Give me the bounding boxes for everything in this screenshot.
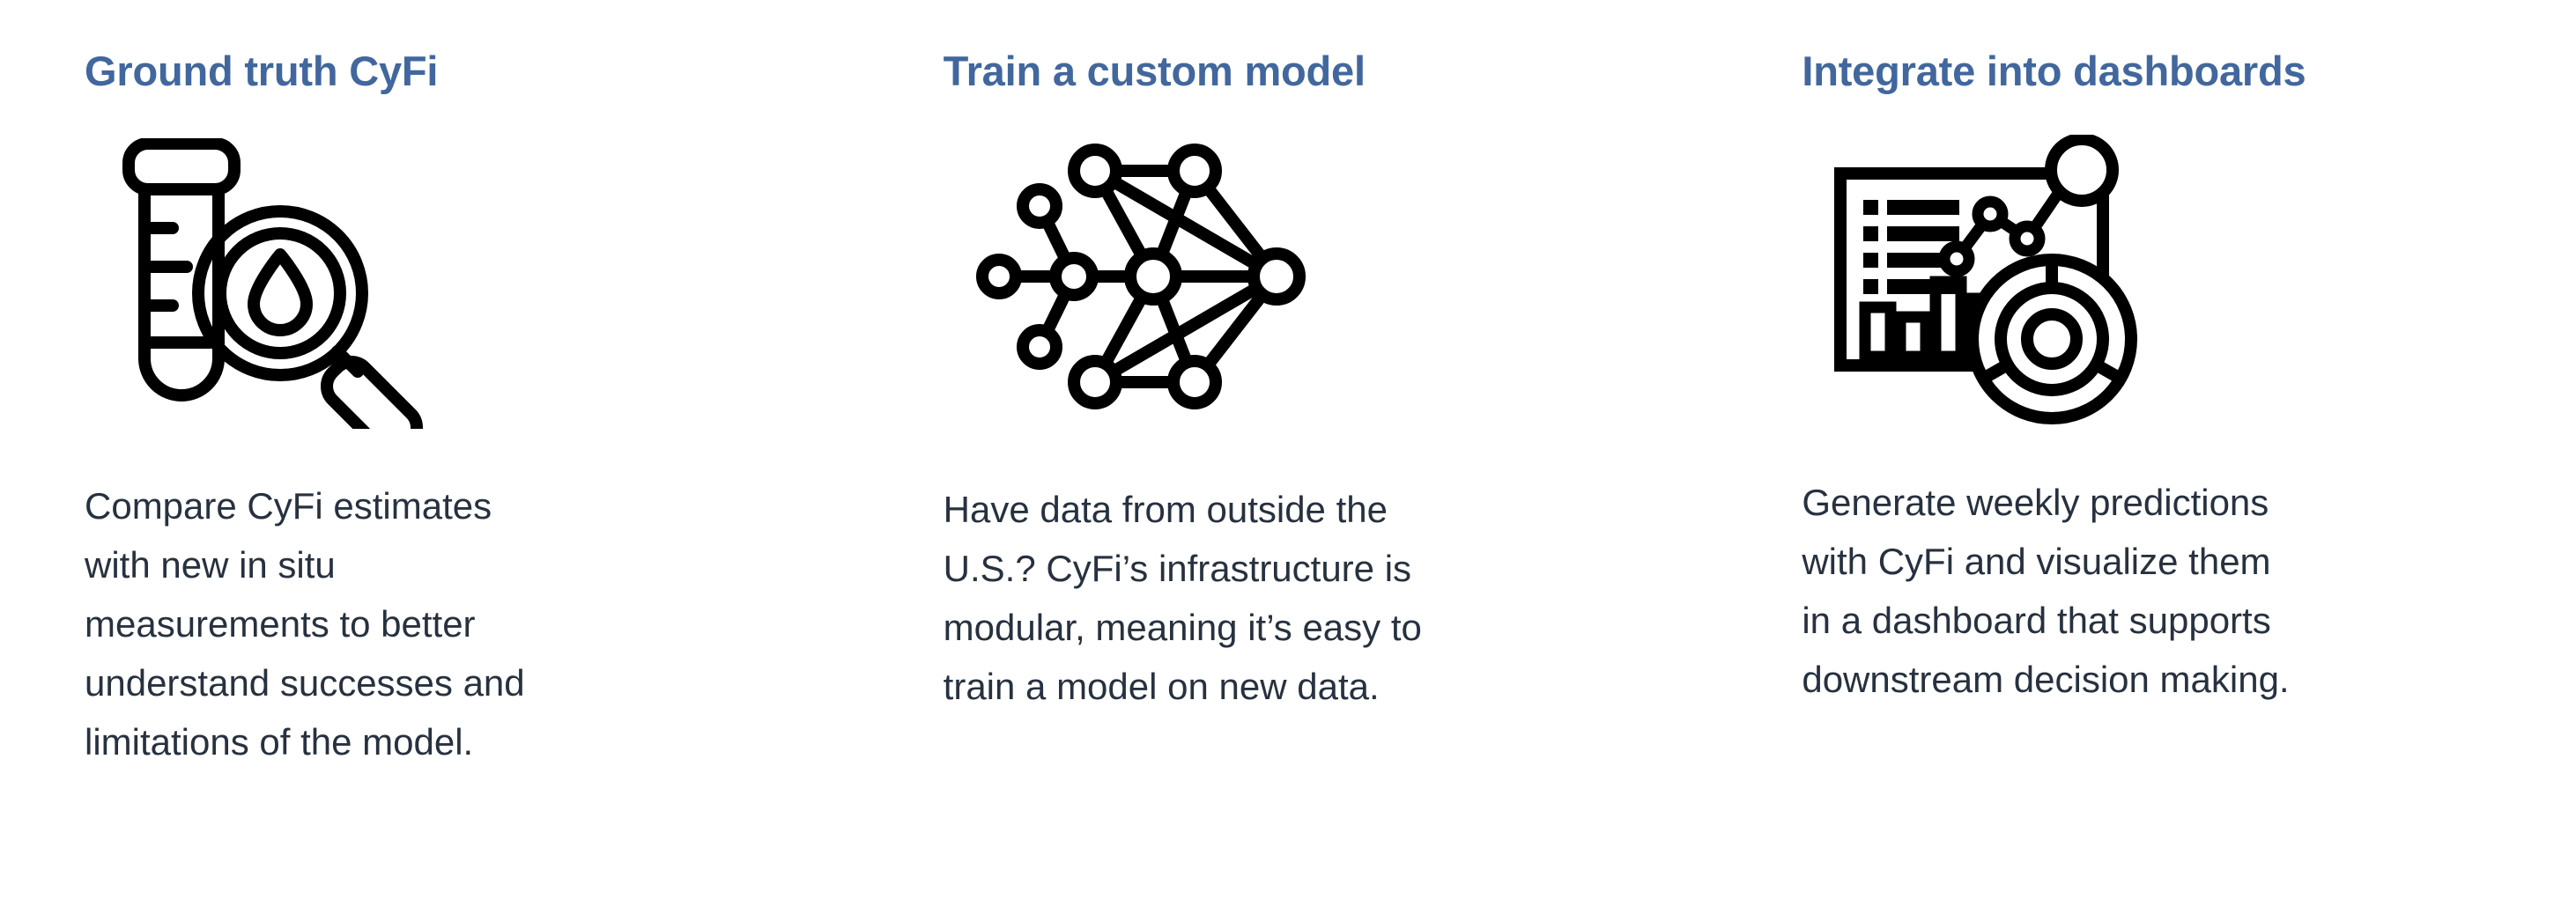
feature-column-custom-model: Train a custom model — [859, 0, 1718, 914]
network-node-hub — [1254, 254, 1299, 299]
network-node — [1074, 150, 1116, 192]
neural-network-icon — [970, 142, 1314, 415]
dashboard-charts-icon — [1833, 135, 2177, 439]
network-node — [1055, 258, 1092, 295]
column-body-custom-model: Have data from outside the U.S.? CyFi’s … — [944, 480, 1437, 716]
feature-columns-section: Ground truth CyFi — [0, 0, 2576, 914]
columns-container: Ground truth CyFi — [0, 0, 2576, 914]
column-body-ground-truth: Compare CyFi estimates with new in situ … — [85, 476, 560, 771]
column-heading-custom-model: Train a custom model — [944, 46, 1686, 98]
dashboard-donut-chart — [1973, 260, 2131, 418]
column-body-dashboards: Generate weekly predictions with CyFi an… — [1802, 473, 2295, 709]
icon-container-custom-model — [944, 142, 1322, 468]
network-node — [1173, 150, 1216, 192]
network-node-hub — [1130, 254, 1176, 299]
column-heading-dashboards: Integrate into dashboards — [1802, 46, 2544, 98]
icon-container-dashboards — [1802, 135, 2180, 461]
icon-container-ground-truth — [85, 138, 463, 464]
network-node — [1074, 361, 1116, 403]
feature-column-ground-truth: Ground truth CyFi — [0, 0, 859, 914]
column-heading-ground-truth: Ground truth CyFi — [85, 46, 827, 98]
network-node — [1173, 361, 1216, 403]
feature-column-dashboards: Integrate into dashboards — [1717, 0, 2576, 914]
dashboard-endpoint-circle — [2051, 139, 2113, 201]
test-tube-magnifier-icon — [118, 138, 435, 429]
network-node — [1023, 330, 1056, 364]
network-node — [1023, 189, 1056, 223]
network-node — [982, 260, 1016, 293]
